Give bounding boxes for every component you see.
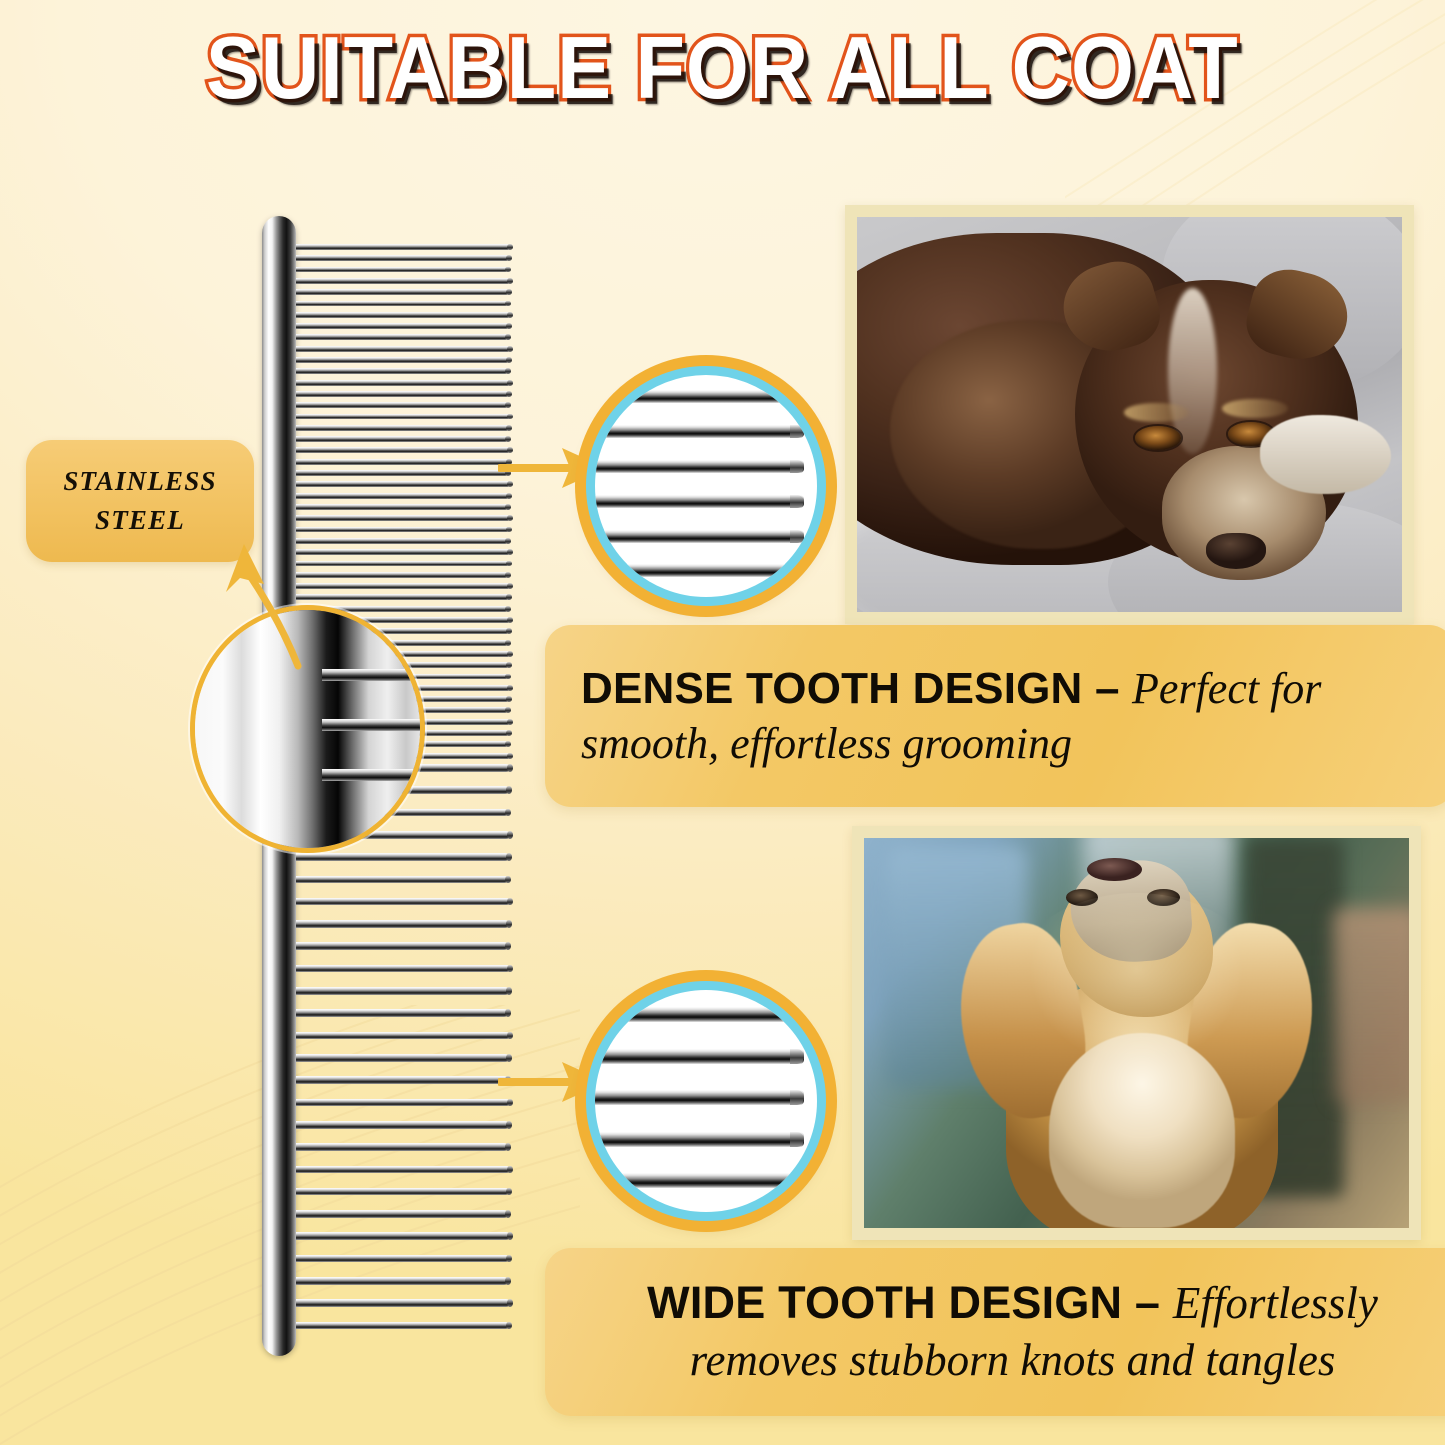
callout-wide-lead: WIDE TOOTH DESIGN – <box>647 1277 1173 1328</box>
comb-tooth-wide <box>296 1210 508 1218</box>
dog-photo-bottom-frame <box>852 826 1421 1240</box>
comb-tooth-dense <box>296 459 509 465</box>
comb-tooth-dense <box>296 402 508 408</box>
dog-nose <box>1087 858 1142 881</box>
comb-tooth-dense <box>296 323 509 329</box>
magnified-tooth <box>586 460 804 473</box>
comb-tooth-wide <box>296 1299 510 1307</box>
callout-dense-tooth: DENSE TOOTH DESIGN – Perfect for smooth,… <box>545 625 1445 807</box>
background-bokeh <box>1333 908 1409 1103</box>
stainless-steel-badge: STAINLESS STEEL <box>26 440 254 562</box>
magnified-tooth <box>586 530 804 543</box>
comb-tooth-dense <box>296 244 510 250</box>
comb-tooth-dense <box>296 255 509 261</box>
comb-tooth-wide <box>296 987 509 995</box>
comb-tooth-wide <box>296 920 509 928</box>
dog-nose <box>1206 533 1266 569</box>
comb-tooth-dense <box>296 572 508 578</box>
comb-tooth-wide <box>296 1255 509 1263</box>
callout-dense-text: DENSE TOOTH DESIGN – Perfect for smooth,… <box>581 661 1419 772</box>
comb-tooth-dense <box>296 368 508 374</box>
dog-eye-left <box>1135 426 1181 450</box>
dog-photo-bottom <box>864 838 1409 1228</box>
comb-tooth-dense <box>296 561 509 567</box>
comb-tooth-wide <box>296 1099 510 1107</box>
comb-tooth-dense <box>296 289 509 295</box>
comb-tooth-wide <box>296 942 508 950</box>
comb-tooth-dense <box>296 527 509 533</box>
dog-photo-top-frame <box>845 205 1414 624</box>
badge-line-2: STEEL <box>95 505 185 535</box>
magnified-tooth <box>586 564 804 577</box>
comb-tooth-dense <box>296 357 509 363</box>
callout-dense-lead: DENSE TOOTH DESIGN – <box>581 664 1132 713</box>
comb-tooth-dense <box>296 312 510 318</box>
comb-tooth-dense <box>296 493 509 499</box>
comb-tooth-wide <box>296 1121 509 1129</box>
comb-tooth-wide <box>296 1032 510 1040</box>
comb-tooth-dense <box>296 504 508 510</box>
dog-brow-right <box>1222 399 1287 419</box>
infographic-canvas: SUITABLE FOR ALL COAT STAINLESS STEEL <box>0 0 1445 1445</box>
wide-tooth-zoom <box>586 981 826 1221</box>
magnified-tooth <box>586 1090 804 1105</box>
comb-tooth-dense <box>296 470 508 476</box>
comb-tooth-dense <box>296 481 510 487</box>
sun-glow <box>984 893 1289 1166</box>
comb-tooth-dense <box>296 334 508 340</box>
headline-container: SUITABLE FOR ALL COAT <box>0 24 1445 112</box>
comb-tooth-dense <box>296 391 509 397</box>
comb-tooth-wide <box>296 853 509 861</box>
callout-wide-text: WIDE TOOTH DESIGN – Effortlessly removes… <box>575 1275 1445 1389</box>
comb-tooth-dense <box>296 515 510 521</box>
comb-tooth-dense <box>296 425 509 431</box>
magnified-tooth <box>322 719 425 731</box>
comb-tooth-dense <box>296 380 510 386</box>
comb-tooth-dense <box>296 267 508 273</box>
comb-tooth-wide <box>296 1166 510 1174</box>
magnified-tooth <box>586 1049 804 1064</box>
comb-tooth-dense <box>296 301 508 307</box>
comb-tooth-dense <box>296 447 510 453</box>
dog-photo-top <box>857 217 1402 612</box>
magnified-tooth <box>586 1007 804 1022</box>
comb-tooth-wide <box>296 1054 509 1062</box>
magnified-tooth <box>586 425 804 438</box>
dense-tooth-zoom <box>586 366 826 606</box>
magnified-tooth <box>586 390 804 403</box>
comb-tooth-wide <box>296 876 508 884</box>
comb-tooth-wide <box>296 1188 509 1196</box>
magnified-tooth <box>322 669 425 681</box>
magnified-tooth <box>322 769 425 781</box>
comb-tooth-wide <box>296 1143 508 1151</box>
comb-tooth-dense <box>296 538 508 544</box>
magnified-tooth <box>586 1132 804 1147</box>
magnified-tooth <box>586 495 804 508</box>
comb-tooth-wide <box>296 1076 508 1084</box>
spine-magnifier-circle <box>190 605 425 853</box>
dog-paw <box>1260 415 1391 494</box>
magnified-tooth <box>586 1173 804 1188</box>
comb-tooth-wide <box>296 1232 510 1240</box>
page-title: SUITABLE FOR ALL COAT <box>206 24 1239 112</box>
badge-line-1: STAINLESS <box>63 466 216 496</box>
comb-tooth-wide <box>296 1277 508 1285</box>
stainless-steel-label: STAINLESS STEEL <box>63 462 216 540</box>
comb-tooth-dense <box>296 278 510 284</box>
comb-tooth-dense <box>296 436 508 442</box>
comb-tooth-dense <box>296 594 509 600</box>
comb-tooth-dense <box>296 549 510 555</box>
comb-tooth-wide <box>296 898 510 906</box>
spine-magnifier-content <box>190 605 425 853</box>
callout-wide-tooth: WIDE TOOTH DESIGN – Effortlessly removes… <box>545 1248 1445 1416</box>
comb-tooth-wide <box>296 965 510 973</box>
comb-tooth-wide <box>296 1322 509 1330</box>
comb-tooth-dense <box>296 583 510 589</box>
comb-tooth-wide <box>296 1009 508 1017</box>
comb-tooth-dense <box>296 414 510 420</box>
comb-tooth-dense <box>296 346 510 352</box>
